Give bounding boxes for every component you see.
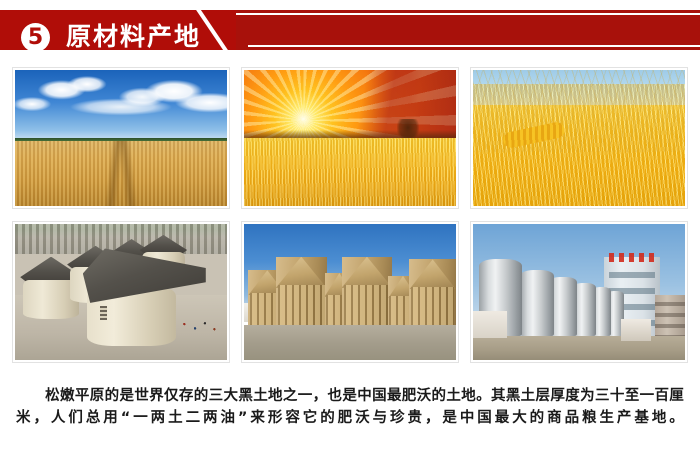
photo6-secondary-building	[655, 295, 685, 341]
photo1-furrow-layer	[15, 141, 227, 206]
photo6-storage-tank	[520, 270, 554, 335]
photo4-silo-window	[100, 306, 107, 320]
banner-tail-bar	[232, 10, 700, 50]
photo5-stack-cap	[342, 257, 393, 288]
photo-wheat-ears-closeup	[473, 70, 685, 206]
photo-wheat-field-blue-sky	[15, 70, 227, 206]
photo1-clouds-layer	[15, 70, 227, 141]
photo5-grain-stack	[409, 259, 456, 324]
section-header-banner: 5 原材料产地	[0, 10, 700, 50]
banner-outline-top	[208, 13, 700, 15]
photo-wheat-field-sunset	[244, 70, 456, 206]
photo5-stack-cap	[409, 259, 456, 289]
section-title: 原材料产地	[66, 22, 201, 52]
photo-grain-stack-pyramids	[244, 224, 456, 360]
photo5-grain-stack	[342, 257, 393, 325]
photo5-stack-cap	[276, 257, 327, 288]
photo5-stack-body	[344, 285, 391, 324]
photo6-small-shed	[621, 319, 651, 341]
image-gallery-grid	[12, 67, 688, 375]
gallery-image-wheat-ears-closeup[interactable]	[470, 67, 688, 209]
gallery-image-wheat-field-sunset[interactable]	[241, 67, 459, 209]
photo6-ground-layer	[473, 336, 685, 360]
gallery-image-steel-tanks-factory[interactable]	[470, 221, 688, 363]
gallery-image-grain-silos-aerial[interactable]	[12, 221, 230, 363]
photo2-field-texture-layer	[244, 138, 456, 206]
section-number-badge: 5	[21, 23, 50, 52]
photo-grain-silos-aerial	[15, 224, 227, 360]
photo5-grain-stack	[276, 257, 327, 325]
gallery-image-grain-stack-pyramids[interactable]	[241, 221, 459, 363]
banner-outline-bottom	[248, 45, 700, 47]
photo4-silo-roof	[140, 235, 187, 254]
photo6-secondary-windows	[655, 295, 685, 341]
section-caption: 松嫩平原的是世界仅存的三大黑土地之一，也是中国最肥沃的土地。其黑土层厚度为三十至…	[16, 385, 684, 429]
photo6-rooftop-sign	[609, 253, 656, 263]
caption-line-1: 松嫩平原的是世界仅存的三大黑土地之一，也是中国最肥沃的土地。其黑土层厚度为三十至…	[45, 388, 654, 404]
photo2-cloud-layer	[244, 70, 456, 138]
photo5-stack-body	[411, 287, 454, 325]
photo5-stack-body	[278, 285, 325, 324]
photo4-workers	[180, 319, 222, 335]
photo5-ground-layer	[244, 325, 456, 360]
photo6-foreground-shed	[473, 311, 507, 338]
photo-steel-tanks-factory	[473, 224, 685, 360]
gallery-image-wheat-field-blue-sky[interactable]	[12, 67, 230, 209]
